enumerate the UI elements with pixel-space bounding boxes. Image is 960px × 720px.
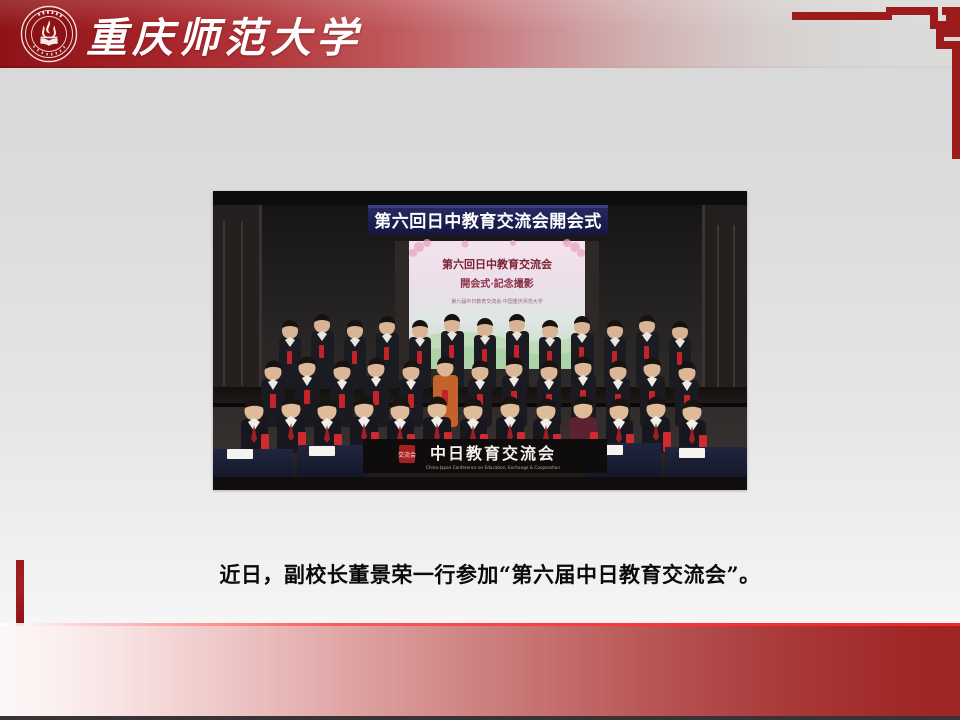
photo-screen-footnote-text: 第六届中日教育交流会·中国重庆师范大学 xyxy=(451,298,543,305)
photo-stage-banner-text: 第六回日中教育交流会開会式 xyxy=(374,211,602,232)
slide-caption: 近日，副校长董景荣一行参加“第六届中日教育交流会”。 xyxy=(60,558,920,592)
presentation-slide: 重庆师范大学 xyxy=(0,0,960,720)
photo-screen-subtitle-text: 開会式·記念撮影 xyxy=(460,277,533,290)
caption-accent-stripe xyxy=(17,562,24,624)
photo-podium-seal-text: 交流会 xyxy=(398,451,416,459)
photo-podium-banner-english: China-Japan Conference on Education, Exc… xyxy=(426,465,560,470)
university-seal-icon xyxy=(20,5,78,63)
photo-screen-title-text: 第六回日中教育交流会 xyxy=(442,257,553,271)
footer-band xyxy=(0,626,960,718)
conference-group-photo[interactable]: 第六回日中教育交流会開会式 第六回日中教育交流会 開会式·記念撮影 第六届中日教… xyxy=(213,191,747,490)
university-name: 重庆师范大学 xyxy=(86,4,362,64)
photo-podium-banner-text: 中日教育交流会 xyxy=(430,444,556,463)
header-divider xyxy=(0,66,960,68)
corner-ornament-top-arm xyxy=(792,7,892,25)
corner-ornament-top-right-icon xyxy=(886,7,960,164)
footer-baseline xyxy=(0,716,960,720)
